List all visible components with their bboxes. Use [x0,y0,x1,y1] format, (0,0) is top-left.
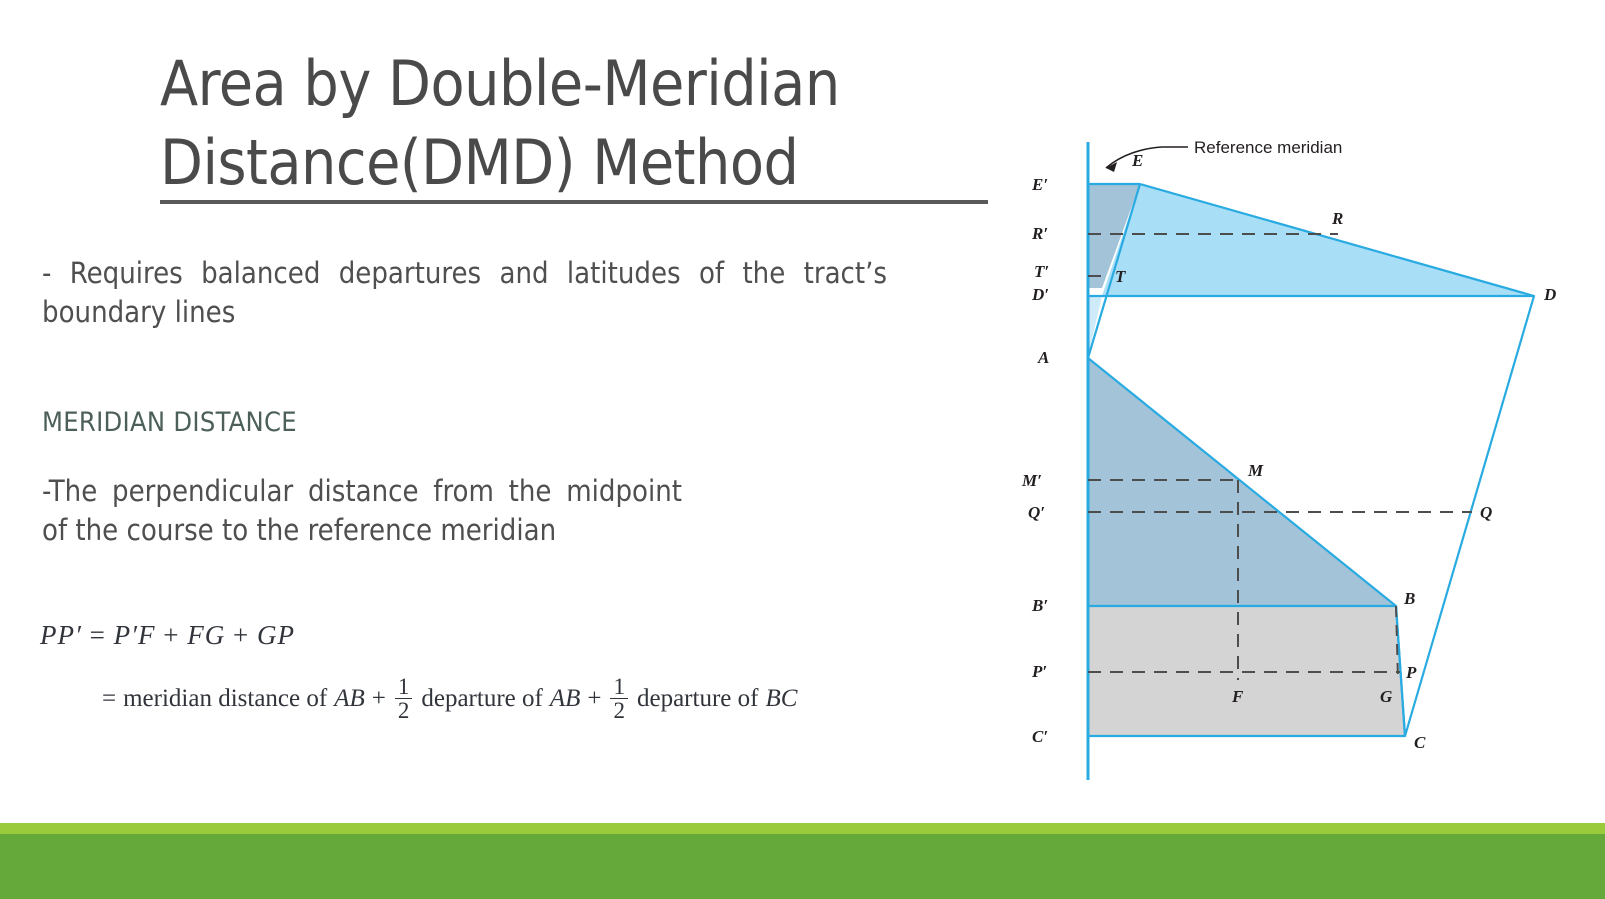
label-F: F [1231,687,1244,706]
formula2-fraction-1: 1 2 [395,675,413,722]
formula2-text-3: departure of [637,685,758,713]
formula1-equals: = [90,620,106,650]
label-B-prime: B′ [1031,596,1048,615]
label-B: B [1403,589,1415,608]
formula1-plus-2: + [233,620,249,650]
label-T-prime: T′ [1034,262,1049,281]
formula2-plus-2: + [587,685,601,713]
slide-canvas: Area by Double-Meridian Distance(DMD) Me… [0,0,1605,899]
formula1-plus-1: + [163,620,179,650]
title-line-1: Area by Double-Meridian [160,44,1020,123]
label-E-prime: E′ [1031,175,1048,194]
label-C-prime: C′ [1032,727,1048,746]
paragraph-perpendicular: -The perpendicular distance from the mid… [42,472,682,549]
label-P: P [1405,663,1417,682]
math-block: PP′ = P′F + FG + GP = meridian distance … [40,620,1020,722]
formula1-term-2: FG [187,620,225,650]
label-R: R [1331,209,1343,228]
dmd-diagram: Reference meridian E′ E R′ R T′ T D′ D A… [1010,120,1605,790]
formula2-var-1: AB [334,685,365,713]
formula-line-1: PP′ = P′F + FG + GP [40,620,1020,651]
label-M: M [1247,461,1264,480]
region-DA-palebluetriangle [1088,296,1102,356]
formula2-text-1: meridian distance of [123,685,327,713]
label-R-prime: R′ [1031,224,1048,243]
label-Q-prime: Q′ [1028,503,1045,522]
label-G: G [1380,687,1393,706]
page-title: Area by Double-Meridian Distance(DMD) Me… [160,44,1020,204]
reference-meridian-caption: Reference meridian [1194,138,1342,157]
formula1-lhs: PP′ [40,620,82,650]
footer-accent-bar-light [0,823,1605,834]
label-Q: Q [1480,503,1492,522]
title-line-2: Distance(DMD) Method [160,123,1020,202]
formula2-var-3: BC [765,685,797,713]
formula2-fraction-1-denominator: 2 [395,698,413,722]
formula2-var-2: AB [550,685,581,713]
region-EDD-lightblue [1102,184,1534,296]
formula2-fraction-2-numerator: 1 [610,675,628,698]
label-D: D [1543,285,1556,304]
formula-line-2: = meridian distance of AB + 1 2 departur… [102,675,1020,722]
heading-meridian-distance: MERIDIAN DISTANCE [42,407,892,438]
formula2-text-2: departure of [421,685,542,713]
formula2-equals: = [102,685,116,713]
label-A: A [1037,348,1049,367]
formula2-fraction-2: 1 2 [610,675,628,722]
label-P-prime: P′ [1031,662,1047,681]
body-text-column: - Requires balanced departures and latit… [42,254,892,549]
label-C: C [1414,733,1426,752]
formula1-term-3: GP [257,620,295,650]
paragraph-requires: - Requires balanced departures and latit… [42,254,887,331]
label-T: T [1115,267,1126,286]
label-E: E [1131,151,1143,170]
label-M-prime: M′ [1021,471,1042,490]
formula2-plus-1: + [372,685,386,713]
title-text: Area by Double-Meridian Distance(DMD) Me… [160,44,1020,203]
title-underline [160,200,988,204]
formula2-fraction-2-denominator: 2 [610,698,628,722]
footer-accent-bar-dark [0,834,1605,899]
formula1-term-1: P′F [114,620,156,650]
formula2-fraction-1-numerator: 1 [395,675,413,698]
label-D-prime: D′ [1031,285,1049,304]
